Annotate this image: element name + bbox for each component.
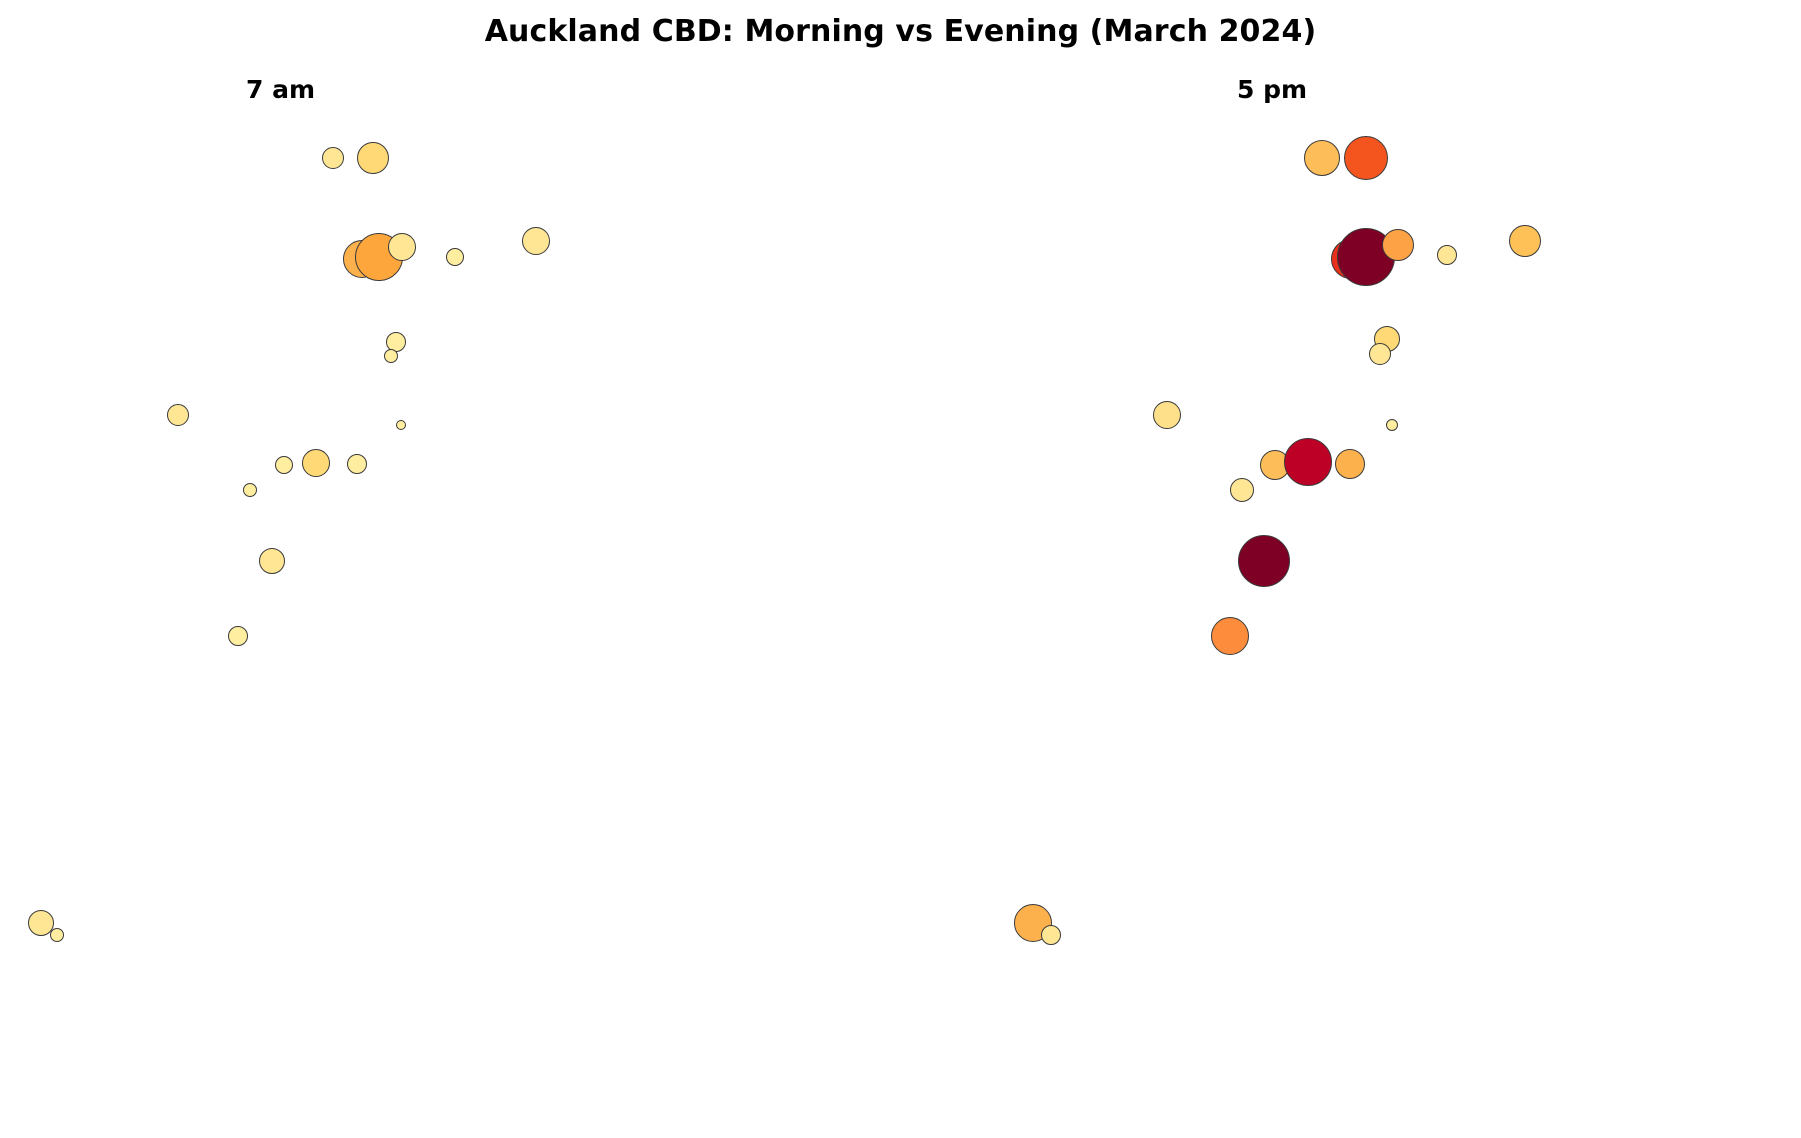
bubble-marker: [357, 142, 389, 174]
bubble-marker: [50, 928, 64, 942]
bubble-marker: [384, 349, 398, 363]
bubble-marker: [1509, 225, 1541, 257]
bubble-marker: [1369, 343, 1391, 365]
bubble-marker: [167, 404, 189, 426]
bubble-marker: [302, 449, 330, 477]
bubble-marker: [259, 548, 285, 574]
bubble-marker: [1382, 229, 1414, 261]
plot-area-morning: [0, 60, 900, 1138]
bubble-marker: [396, 420, 406, 430]
figure-title: Auckland CBD: Morning vs Evening (March …: [0, 14, 1801, 49]
bubble-marker: [1230, 478, 1254, 502]
bubble-marker: [347, 454, 367, 474]
figure-canvas: Auckland CBD: Morning vs Evening (March …: [0, 0, 1801, 1138]
bubble-marker: [1153, 401, 1181, 429]
bubble-marker: [1238, 535, 1290, 587]
bubble-marker: [1335, 449, 1365, 479]
panel-evening: 5 pm: [900, 60, 1801, 1138]
bubble-marker: [522, 227, 550, 255]
bubble-marker: [1344, 136, 1388, 180]
bubble-marker: [1041, 925, 1061, 945]
plot-area-evening: [900, 60, 1801, 1138]
bubble-marker: [1284, 438, 1332, 486]
bubble-marker: [243, 483, 257, 497]
bubble-marker: [322, 147, 344, 169]
bubble-marker: [388, 233, 416, 261]
bubble-marker: [228, 626, 248, 646]
bubble-marker: [1211, 617, 1249, 655]
bubble-marker: [1304, 140, 1340, 176]
bubble-marker: [1386, 419, 1398, 431]
panel-morning: 7 am: [0, 60, 900, 1138]
bubble-marker: [446, 248, 464, 266]
bubble-marker: [275, 456, 293, 474]
bubble-marker: [1437, 245, 1457, 265]
